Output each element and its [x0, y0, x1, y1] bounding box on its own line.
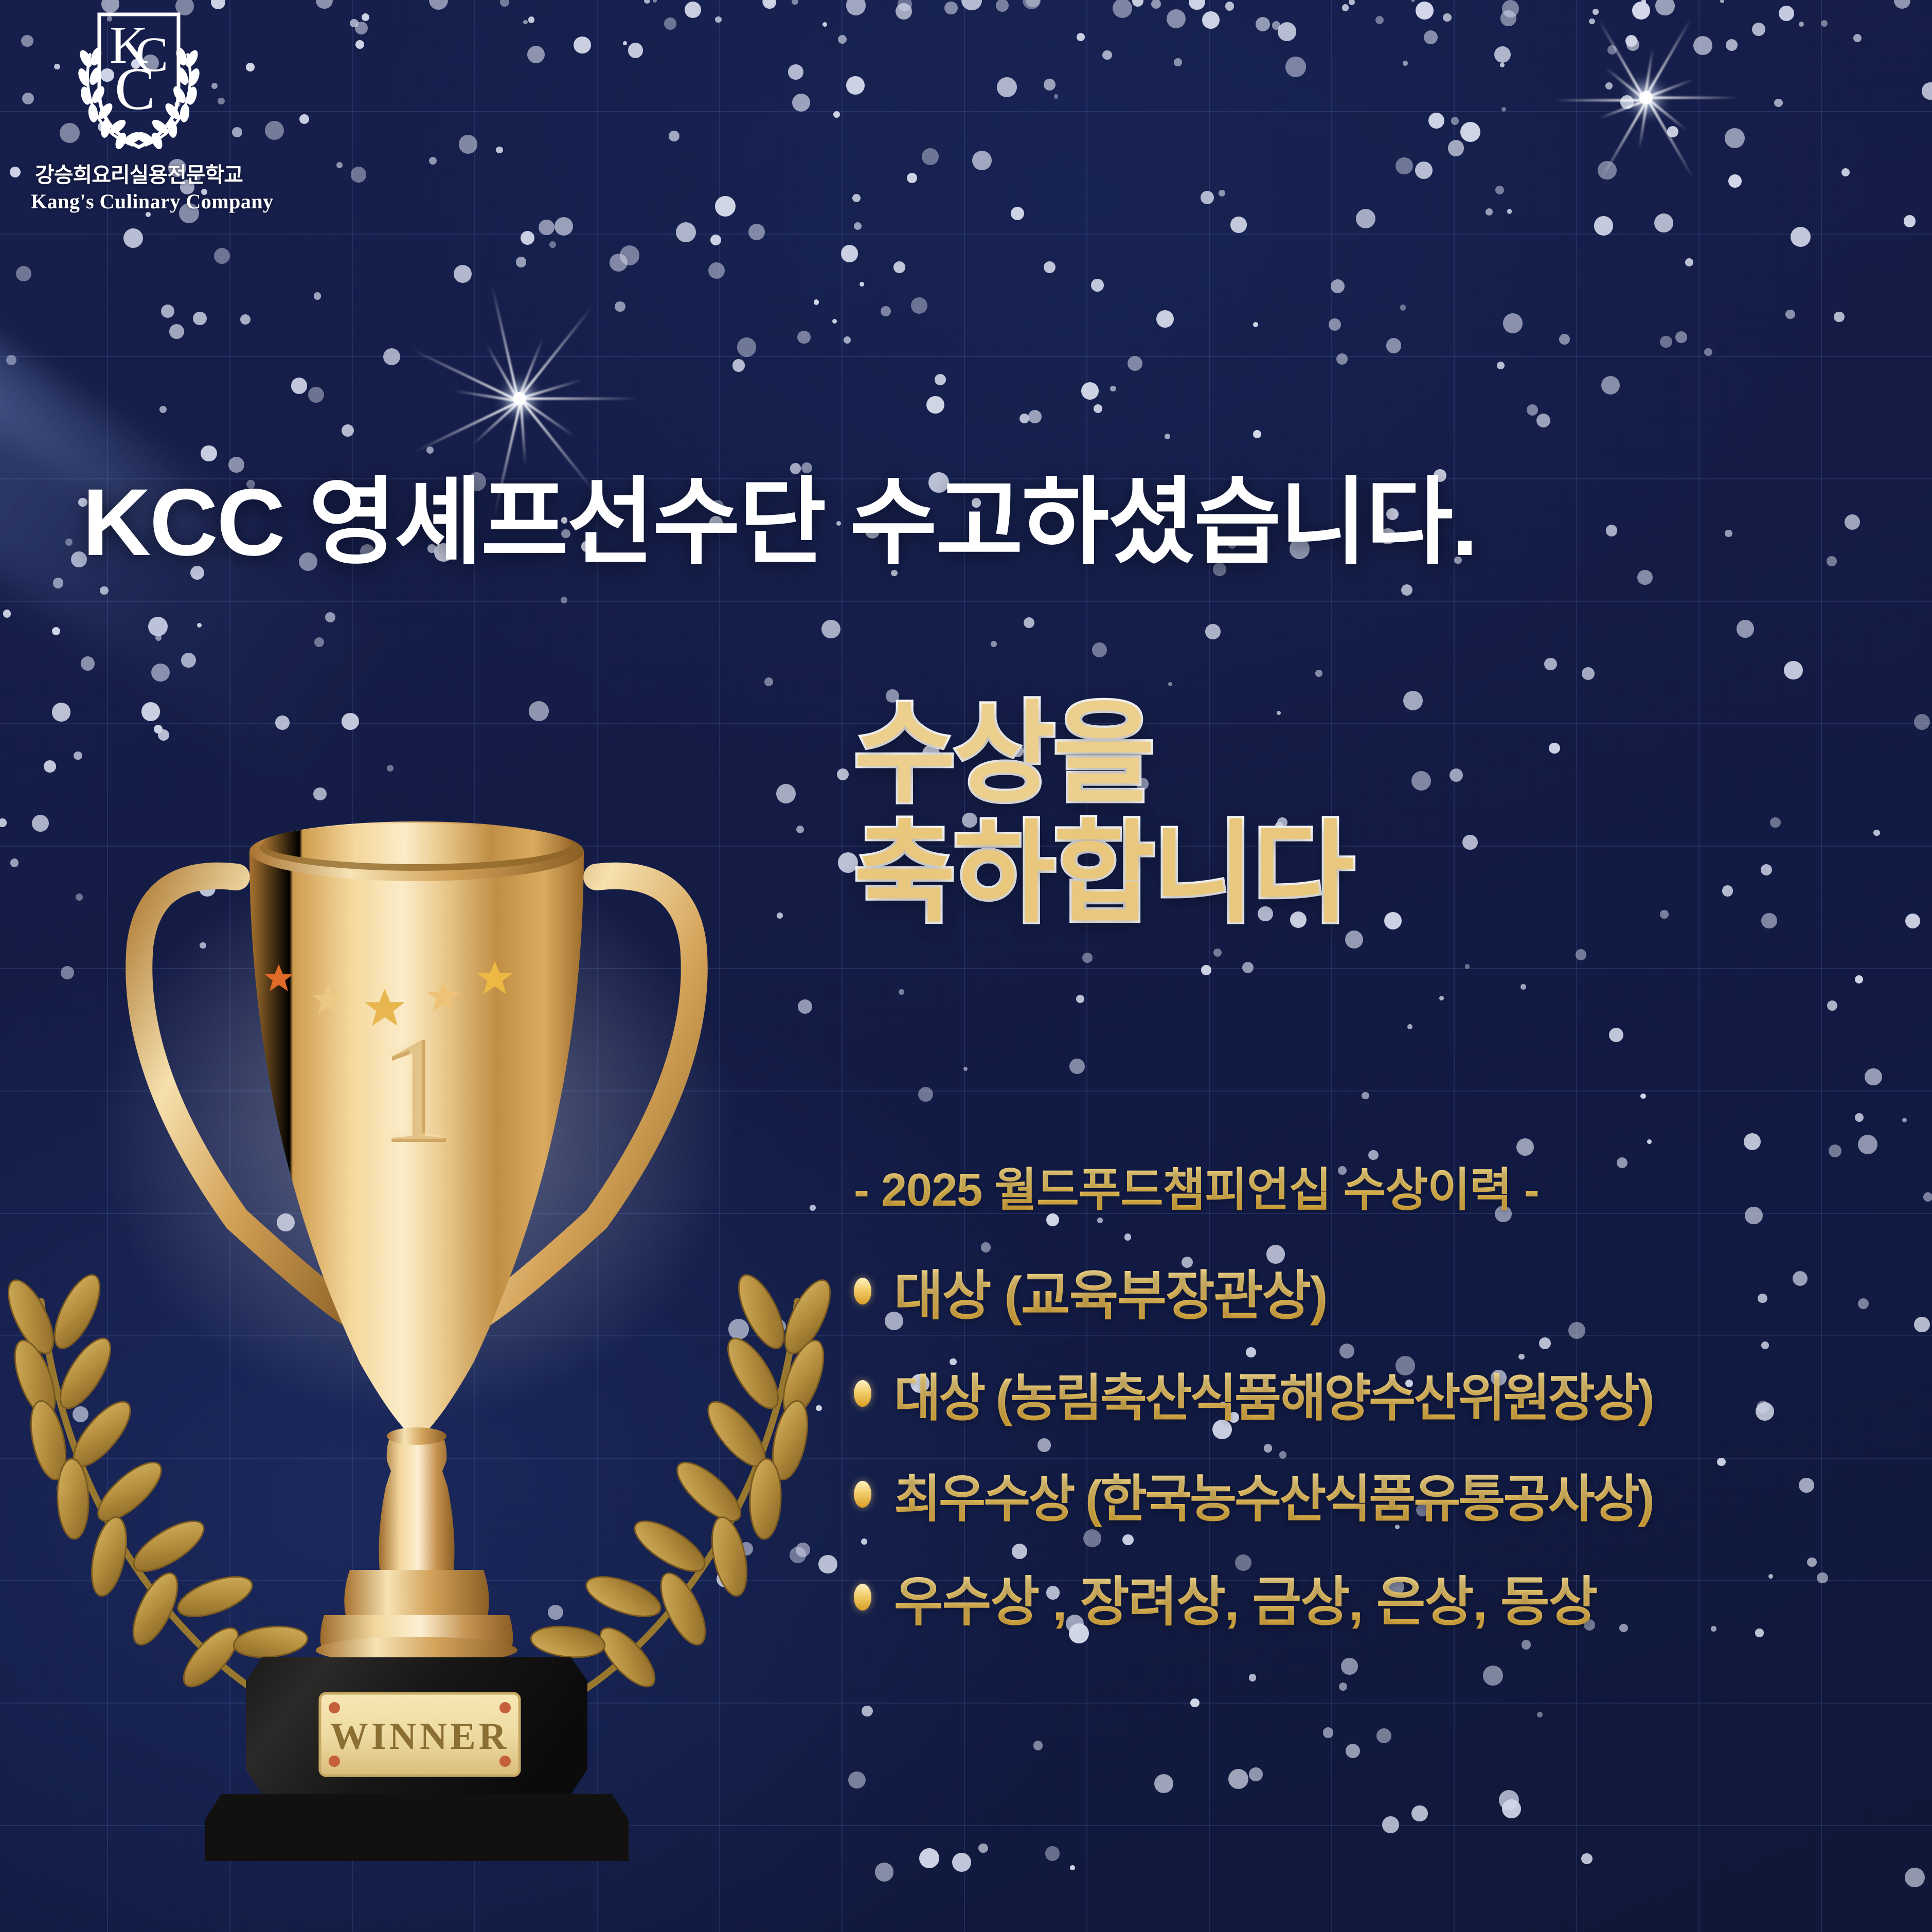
star-dot — [1675, 331, 1687, 343]
star-dot — [1641, 0, 1646, 4]
star-dot — [676, 222, 696, 242]
star-dot — [898, 0, 911, 11]
star-dot — [1272, 21, 1281, 30]
star-dot — [161, 305, 175, 318]
star-dot — [100, 586, 109, 595]
page-headline: KCC 영셰프선수단 수고하셨습니다. — [82, 445, 1872, 583]
star-dot — [762, 0, 775, 7]
star-dot — [1495, 186, 1504, 194]
star-dot — [1655, 0, 1675, 15]
star-dot — [529, 701, 549, 721]
star-dot — [141, 702, 160, 721]
star-dot — [561, 597, 567, 603]
sparkle-ray — [1638, 99, 1649, 150]
sparkle-ray — [412, 349, 520, 402]
star-dot — [1502, 0, 1519, 17]
star-dot — [664, 17, 676, 30]
sparkle-ray — [1646, 98, 1694, 179]
star-dot — [1077, 33, 1085, 42]
star-dot — [628, 43, 643, 58]
star-dot — [797, 331, 810, 344]
star-dot — [1785, 310, 1795, 319]
star-dot — [1439, 996, 1444, 1000]
star-dot — [821, 620, 840, 639]
star-dot — [708, 262, 725, 279]
star-dot — [1486, 208, 1493, 216]
star-dot — [181, 653, 196, 668]
star-dot — [822, 22, 827, 27]
svg-text:1: 1 — [375, 1001, 452, 1172]
star-dot — [10, 167, 21, 177]
star-dot — [169, 324, 184, 339]
star-dot — [197, 623, 202, 628]
star-dot — [972, 151, 992, 170]
star-dot — [1465, 964, 1470, 969]
star-dot — [1382, 1816, 1399, 1833]
star-dot — [1722, 885, 1733, 896]
star-dot — [1728, 174, 1742, 188]
star-dot — [336, 162, 343, 169]
star-dot — [620, 245, 639, 265]
sparkle-ray — [1644, 17, 1692, 99]
star-dot — [852, 194, 861, 202]
star-dot — [342, 424, 354, 437]
sparkle-ray — [520, 398, 638, 400]
sparkle-core — [1639, 91, 1653, 104]
star-dot — [1632, 2, 1650, 20]
star-dot — [1336, 353, 1348, 365]
star-dot — [523, 20, 528, 25]
star-dot — [1054, 94, 1059, 99]
star-dot — [265, 121, 284, 140]
star-dot — [154, 725, 163, 734]
star-dot — [1026, 0, 1040, 7]
star-dot — [710, 235, 721, 245]
star-dot — [308, 387, 324, 403]
star-dot — [1640, 1094, 1646, 1099]
star-dot — [792, 94, 810, 112]
star-dot — [1720, 0, 1724, 3]
star-dot — [1601, 376, 1620, 395]
star-dot — [1923, 1192, 1932, 1201]
star-dot — [1752, 23, 1765, 36]
star-dot — [615, 301, 625, 312]
star-dot — [521, 231, 534, 245]
star-dot — [1242, 962, 1254, 973]
star-dot — [429, 0, 449, 10]
star-dot — [1349, 0, 1355, 5]
star-dot — [1189, 0, 1205, 10]
star-dot — [1285, 57, 1305, 77]
star-dot — [1069, 1059, 1085, 1074]
star-dot — [669, 131, 679, 141]
star-dot — [1156, 310, 1174, 328]
star-dot — [1331, 279, 1345, 293]
star-dot — [429, 157, 437, 165]
star-dot — [275, 715, 290, 730]
star-dot — [527, 46, 545, 63]
star-dot — [1499, 1790, 1519, 1810]
star-dot — [1384, 912, 1402, 929]
star-dot — [893, 261, 905, 273]
star-dot — [1045, 1846, 1060, 1861]
star-dot — [919, 1848, 939, 1868]
award-label: 우수상 , 장려상, 금상, 은상, 동상 — [894, 1558, 1597, 1636]
sparkle-ray — [1605, 67, 1646, 101]
star-dot — [1346, 1744, 1360, 1758]
star-dot — [1253, 430, 1261, 438]
star-dot — [1213, 949, 1222, 957]
star-dot — [961, 0, 982, 10]
star-dot — [1082, 953, 1093, 963]
star-dot — [383, 348, 400, 365]
congrats-line-2: 축하합니다 — [854, 817, 1352, 929]
star-dot — [528, 16, 535, 23]
star-dot — [1110, 386, 1116, 391]
school-name-korean: 강승희요리실용전문학교 — [31, 157, 247, 188]
award-label: 최우수상 (한국농수산식품유통공사상) — [894, 1457, 1653, 1531]
star-dot — [1536, 414, 1550, 427]
star-dot — [881, 306, 891, 316]
star-dot — [342, 713, 359, 730]
star-dot — [1500, 63, 1505, 67]
star-dot — [1593, 9, 1599, 15]
star-dot — [1375, 16, 1384, 24]
star-dot — [1761, 913, 1777, 928]
star-dot — [1094, 404, 1102, 413]
star-dot — [516, 257, 526, 267]
award-history-section: - 2025 월드푸드챔피언십 수상이력 - 대상 (교육부장관상) 대상 (농… — [854, 1152, 1913, 1662]
school-logo: K C C 강승희요리실용전문학교 Kang's Culinary Compan… — [31, 5, 247, 213]
school-name-english: Kang's Culinary Company — [31, 189, 247, 213]
star-dot — [997, 77, 1017, 97]
winner-plaque: WINNER — [320, 1693, 520, 1776]
star-dot — [1902, 1118, 1907, 1122]
star-dot — [53, 578, 64, 588]
star-dot — [1362, 1092, 1369, 1100]
star-dot — [151, 664, 169, 682]
star-dot — [1894, 0, 1910, 9]
sparkle-ray — [517, 338, 544, 400]
star-dot — [1725, 128, 1745, 148]
star-dot — [500, 0, 509, 7]
star-dot — [81, 656, 95, 670]
star-dot — [1323, 1727, 1333, 1738]
star-dot — [1415, 162, 1433, 179]
star-dot — [860, 282, 864, 287]
congratulation-text: 수상을 축하합니다 — [854, 697, 1352, 930]
star-dot — [1190, 1698, 1199, 1707]
star-dot — [1256, 17, 1270, 31]
award-list-item: 대상 (농림축산식품해양수산위원장상) — [854, 1356, 1913, 1430]
star-dot — [1174, 58, 1182, 66]
star-dot — [685, 2, 701, 18]
star-dot — [1403, 61, 1408, 66]
star-dot — [1411, 771, 1431, 791]
star-dot — [1922, 82, 1932, 100]
star-dot — [1450, 768, 1463, 782]
star-dot — [896, 3, 912, 20]
star-dot — [1799, 22, 1804, 27]
star-dot — [1559, 334, 1570, 345]
star-dot — [355, 22, 367, 34]
star-dot — [1527, 404, 1538, 416]
star-dot — [935, 374, 946, 385]
star-dot — [1855, 975, 1863, 983]
star-dot — [155, 635, 162, 641]
star-dot — [1315, 670, 1322, 677]
star-dot — [1914, 1317, 1929, 1332]
star-dot — [1576, 949, 1586, 960]
star-dot — [1024, 617, 1034, 628]
star-dot — [314, 292, 321, 300]
star-dot — [1537, 1712, 1543, 1718]
star-dot — [325, 612, 336, 623]
star-dot — [1154, 1774, 1174, 1794]
star-dot — [554, 217, 573, 236]
star-dot — [1128, 356, 1142, 371]
star-dot — [1544, 658, 1557, 671]
star-dot — [899, 989, 904, 995]
star-dot — [454, 265, 472, 283]
star-dot — [1201, 965, 1211, 975]
star-dot — [1779, 6, 1794, 21]
star-dot — [963, 1067, 968, 1071]
star-dot — [1411, 0, 1415, 2]
star-dot — [764, 677, 773, 686]
star-dot — [1201, 191, 1214, 204]
star-dot — [1594, 216, 1613, 235]
star-dot — [715, 16, 722, 23]
star-dot — [1507, 209, 1512, 213]
star-dot — [574, 37, 591, 54]
star-dot — [1605, 82, 1613, 90]
sparkle-ray — [472, 400, 522, 446]
star-dot — [539, 220, 554, 235]
star-dot — [1483, 1666, 1502, 1685]
star-dot — [193, 312, 206, 325]
star-dot — [737, 337, 756, 356]
star-dot — [1620, 95, 1634, 109]
star-dot — [1598, 161, 1616, 180]
star-dot — [1168, 682, 1172, 686]
star-dot — [1428, 113, 1444, 129]
star-dot — [3, 610, 11, 618]
star-dot — [1092, 642, 1107, 657]
star-dot — [1581, 1853, 1592, 1864]
award-list-item: 대상 (교육부장관상) — [854, 1252, 1913, 1330]
star-dot — [926, 396, 944, 414]
star-dot — [1081, 382, 1099, 400]
trophy-illustration: 1 1 WINNER — [0, 741, 869, 1862]
sparkle-ray — [1599, 99, 1647, 120]
star-dot — [1462, 835, 1478, 850]
congrats-line-1: 수상을 — [854, 697, 1352, 810]
star-dot — [1376, 1728, 1391, 1743]
star-dot — [1386, 338, 1401, 353]
star-dot — [1329, 318, 1341, 331]
star-dot — [1685, 258, 1693, 266]
star-dot — [918, 1087, 933, 1102]
star-dot — [1660, 910, 1668, 918]
star-dot — [996, 0, 1009, 12]
star-dot — [1834, 312, 1845, 323]
star-dot — [1494, 46, 1511, 63]
star-dot — [351, 167, 366, 182]
star-dot — [1401, 584, 1412, 596]
star-dot — [1609, 1028, 1623, 1042]
star-dot — [158, 729, 169, 741]
star-dot — [148, 617, 168, 636]
star-dot — [1520, 984, 1526, 989]
star-dot — [6, 355, 16, 365]
sparkle-ray — [1553, 99, 1646, 102]
star-dot — [1704, 348, 1712, 356]
star-dot — [1044, 79, 1056, 91]
star-dot — [1607, 45, 1617, 55]
sparkle-ray — [1646, 97, 1687, 131]
star-dot — [299, 114, 309, 124]
star-dot — [214, 248, 230, 264]
star-dot — [52, 703, 70, 721]
star-dot — [846, 76, 865, 95]
star-dot — [549, 241, 556, 248]
star-dot — [1667, 126, 1678, 137]
star-dot — [1132, 0, 1144, 7]
star-dot — [715, 196, 736, 217]
star-dot — [1416, 2, 1434, 20]
star-dot — [610, 254, 628, 272]
star-dot — [1502, 1799, 1521, 1818]
star-dot — [16, 266, 31, 281]
star-dot — [314, 637, 324, 647]
sparkle-burst-top-right — [1643, 95, 1649, 100]
star-dot — [123, 228, 143, 248]
star-dot — [1761, 864, 1772, 875]
award-label: 대상 (농림축산식품해양수산위원장상) — [894, 1356, 1653, 1430]
star-dot — [1249, 1767, 1263, 1781]
winner-plate-label: WINNER — [330, 1715, 509, 1758]
star-dot — [496, 147, 503, 154]
sparkle-core — [513, 392, 526, 405]
star-dot — [1249, 1674, 1256, 1681]
star-dot — [1342, 4, 1349, 11]
svg-text:C: C — [115, 55, 155, 122]
star-dot — [159, 406, 167, 413]
star-dot — [65, 539, 73, 546]
star-dot — [1424, 30, 1438, 44]
star-dot — [350, 19, 359, 28]
star-dot — [240, 314, 251, 325]
star-dot — [1774, 99, 1782, 107]
star-dot — [1202, 11, 1220, 29]
sparkle-ray — [517, 306, 593, 400]
star-dot — [911, 297, 927, 314]
star-dot — [1549, 743, 1560, 754]
star-dot — [846, 0, 866, 15]
star-dot — [952, 1853, 971, 1872]
star-dot — [1076, 995, 1085, 1004]
star-dot — [1827, 1000, 1837, 1011]
star-dot — [1033, 1741, 1043, 1750]
award-list-item: 우수상 , 장려상, 금상, 은상, 동상 — [854, 1558, 1913, 1636]
star-dot — [1451, 117, 1459, 125]
star-dot — [1626, 38, 1639, 51]
sparkle-ray — [1645, 78, 1693, 99]
star-dot — [1905, 914, 1920, 928]
star-dot — [1113, 0, 1132, 18]
star-dot — [1070, 1865, 1075, 1870]
sparkle-ray — [491, 284, 520, 400]
star-dot — [1356, 209, 1375, 228]
star-dot — [875, 1863, 894, 1882]
star-dot — [316, 0, 332, 9]
star-dot — [355, 40, 364, 49]
star-dot — [623, 41, 627, 45]
star-dot — [1858, 1135, 1877, 1154]
star-dot — [1443, 13, 1452, 22]
star-dot — [1407, 1024, 1412, 1029]
star-dot — [1500, 10, 1516, 26]
star-dot — [1448, 140, 1464, 156]
star-dot — [1253, 322, 1258, 327]
star-dot — [1230, 217, 1246, 232]
sparkle-ray — [520, 398, 575, 437]
star-dot — [1028, 410, 1042, 423]
star-dot — [1460, 122, 1480, 142]
award-history-subtitle: - 2025 월드푸드챔피언십 수상이력 - — [854, 1152, 1913, 1219]
star-dot — [1589, 19, 1595, 25]
star-dot — [1737, 620, 1754, 637]
star-dot — [1225, 2, 1234, 10]
sparkle-ray — [1646, 97, 1739, 99]
star-dot — [748, 224, 765, 240]
award-label: 대상 (교육부장관상) — [894, 1252, 1327, 1330]
star-dot — [978, 1844, 988, 1853]
star-dot — [832, 319, 837, 324]
star-dot — [1165, 434, 1170, 439]
star-dot — [1625, 35, 1637, 47]
star-dot — [1873, 830, 1880, 836]
star-dot — [1784, 661, 1803, 680]
star-dot — [1503, 313, 1523, 333]
star-dot — [1102, 50, 1112, 60]
star-dot — [1339, 1683, 1347, 1691]
shield-crest-icon: K C C — [54, 5, 224, 159]
star-dot — [1396, 157, 1412, 174]
star-dot — [644, 0, 650, 4]
star-dot — [907, 173, 917, 183]
star-dot — [1865, 1068, 1882, 1085]
star-dot — [1205, 624, 1221, 639]
star-dot — [1841, 168, 1850, 176]
sparkle-ray — [1643, 48, 1654, 99]
award-congratulation-poster: K C C 강승희요리실용전문학교 Kang's Culinary Compan… — [0, 0, 1932, 1932]
star-dot — [1914, 714, 1930, 730]
sparkle-ray — [519, 379, 582, 400]
star-dot — [944, 2, 957, 14]
sparkle-burst-mid-left — [517, 396, 522, 401]
star-dot — [844, 336, 851, 344]
star-dot — [1278, 22, 1297, 41]
star-dot — [1744, 1133, 1761, 1150]
star-dot — [1023, 0, 1041, 9]
star-dot — [1497, 362, 1505, 369]
star-dot — [362, 13, 369, 21]
star-dot — [291, 378, 307, 393]
star-dot — [1904, 215, 1916, 227]
star-dot — [52, 627, 60, 635]
